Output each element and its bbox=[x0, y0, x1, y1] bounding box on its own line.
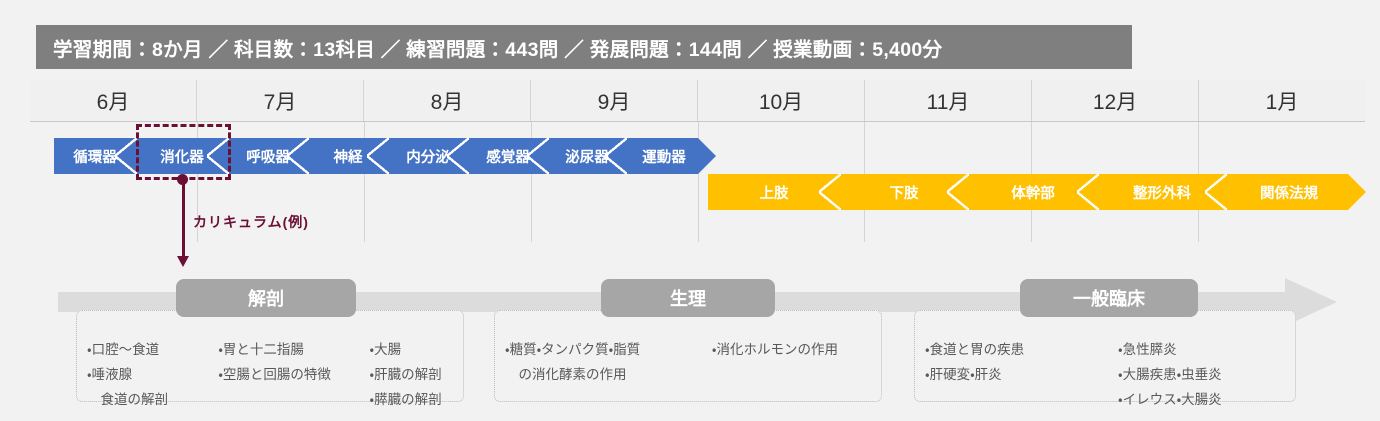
detail-item: ・イレウス・大腸炎 bbox=[1118, 387, 1291, 412]
month-cell-8: 1月 bbox=[1198, 80, 1365, 121]
detail-item: の消化酵素の作用 bbox=[505, 362, 698, 387]
detail-item: ・膵臓の解剖 bbox=[370, 387, 459, 412]
blue-chevron-4[interactable]: 神経 bbox=[308, 138, 388, 174]
detail-panel-anatomy: ・口腔〜食道・唾液腺 食道の解剖・胃と十二指腸・空腸と回腸の特徴・大腸・肝臓の解… bbox=[76, 310, 464, 402]
blue-chevron-6[interactable]: 感覚器 bbox=[468, 138, 548, 174]
yellow-chevron-5[interactable]: 関係法規 bbox=[1226, 174, 1366, 210]
yellow-chevron-3[interactable]: 体幹部 bbox=[968, 174, 1098, 210]
month-cell-1: 6月 bbox=[30, 80, 196, 121]
detail-column-3: ・大腸・肝臓の解剖・膵臓の解剖 bbox=[360, 337, 463, 395]
detail-columns: ・口腔〜食道・唾液腺 食道の解剖・胃と十二指腸・空腸と回腸の特徴・大腸・肝臓の解… bbox=[77, 337, 463, 395]
detail-column-2: ・胃と十二指腸・空腸と回腸の特徴 bbox=[208, 337, 359, 395]
yellow-chevron-label: 体幹部 bbox=[1011, 182, 1055, 203]
callout-label: カリキュラム(例) bbox=[193, 212, 309, 232]
detail-column-1: ・糖質・タンパク質・脂質 の消化酵素の作用 bbox=[495, 337, 702, 395]
yellow-chevron-2[interactable]: 下肢 bbox=[840, 174, 968, 210]
detail-item: ・胃と十二指腸 bbox=[218, 337, 355, 362]
detail-item: ・肝臓の解剖 bbox=[370, 362, 459, 387]
yellow-chevron-label: 整形外科 bbox=[1133, 182, 1191, 203]
summary-banner-text: 学習期間：8か月 ／ 科目数：13科目 ／ 練習問題：443問 ／ 発展問題：1… bbox=[53, 33, 942, 62]
curriculum-timeline-diagram: 学習期間：8か月 ／ 科目数：13科目 ／ 練習問題：443問 ／ 発展問題：1… bbox=[0, 0, 1380, 421]
month-cell-4: 9月 bbox=[530, 80, 697, 121]
detail-column-2: ・消化ホルモンの作用 bbox=[702, 337, 881, 395]
yellow-chevron-4[interactable]: 整形外科 bbox=[1098, 174, 1226, 210]
detail-panel-title-anatomy: 解剖 bbox=[176, 279, 356, 317]
detail-panel-title-clinical: 一般臨床 bbox=[1020, 279, 1198, 317]
blue-chevron-label: 循環器 bbox=[73, 146, 117, 167]
detail-item: ・空腸と回腸の特徴 bbox=[218, 362, 355, 387]
detail-item: ・食道と胃の疾患 bbox=[925, 337, 1104, 362]
callout-anchor-dot bbox=[177, 174, 188, 185]
yellow-chevron-label: 関係法規 bbox=[1260, 182, 1318, 203]
detail-item: ・大腸 bbox=[370, 337, 459, 362]
detail-columns: ・糖質・タンパク質・脂質 の消化酵素の作用・消化ホルモンの作用 bbox=[495, 337, 881, 395]
blue-chevron-5[interactable]: 内分泌 bbox=[388, 138, 468, 174]
blue-chevron-label: 泌尿器 bbox=[565, 146, 609, 167]
detail-column-1: ・口腔〜食道・唾液腺 食道の解剖 bbox=[77, 337, 208, 395]
detail-item: ・消化ホルモンの作用 bbox=[712, 337, 877, 362]
detail-column-2: ・急性膵炎・大腸疾患・虫垂炎・イレウス・大腸炎 bbox=[1108, 337, 1295, 395]
month-cell-3: 8月 bbox=[363, 80, 530, 121]
yellow-chevron-label: 上肢 bbox=[760, 182, 789, 203]
month-cell-6: 11月 bbox=[864, 80, 1031, 121]
callout-highlight-box bbox=[136, 124, 231, 180]
yellow-chevron-1[interactable]: 上肢 bbox=[708, 174, 840, 210]
detail-panel-clinical: ・食道と胃の疾患・肝硬変・肝炎・急性膵炎・大腸疾患・虫垂炎・イレウス・大腸炎 bbox=[914, 310, 1296, 402]
detail-item: ・急性膵炎 bbox=[1118, 337, 1291, 362]
detail-item: 食道の解剖 bbox=[87, 387, 204, 412]
detail-item: ・糖質・タンパク質・脂質 bbox=[505, 337, 698, 362]
blue-chevron-label: 呼吸器 bbox=[246, 146, 290, 167]
detail-item: ・大腸疾患・虫垂炎 bbox=[1118, 362, 1291, 387]
detail-item: ・唾液腺 bbox=[87, 362, 204, 387]
detail-panel-physiology: ・糖質・タンパク質・脂質 の消化酵素の作用・消化ホルモンの作用 bbox=[494, 310, 882, 402]
detail-panel-title-physiology: 生理 bbox=[601, 279, 775, 317]
summary-banner: 学習期間：8か月 ／ 科目数：13科目 ／ 練習問題：443問 ／ 発展問題：1… bbox=[36, 25, 1132, 69]
blue-chevron-8[interactable]: 運動器 bbox=[626, 138, 716, 174]
blue-chevron-label: 神経 bbox=[334, 146, 363, 167]
detail-item: ・口腔〜食道 bbox=[87, 337, 204, 362]
yellow-chevron-label: 下肢 bbox=[890, 182, 919, 203]
month-cell-5: 10月 bbox=[697, 80, 864, 121]
blue-chevron-label: 内分泌 bbox=[406, 146, 450, 167]
detail-item: ・肝硬変・肝炎 bbox=[925, 362, 1104, 387]
month-cell-2: 7月 bbox=[196, 80, 363, 121]
blue-chevron-7[interactable]: 泌尿器 bbox=[548, 138, 626, 174]
month-header-row: 6月7月8月9月10月11月12月1月 bbox=[30, 80, 1365, 122]
yellow-subject-track: 上肢下肢体幹部整形外科関係法規 bbox=[708, 174, 1366, 210]
blue-chevron-label: 運動器 bbox=[642, 146, 686, 167]
callout-arrow-head-icon bbox=[177, 256, 189, 267]
blue-chevron-label: 感覚器 bbox=[486, 146, 530, 167]
month-cell-7: 12月 bbox=[1031, 80, 1198, 121]
callout-arrow-stem bbox=[182, 178, 185, 260]
blue-chevron-1[interactable]: 循環器 bbox=[54, 138, 136, 174]
blue-chevron-3[interactable]: 呼吸器 bbox=[228, 138, 308, 174]
detail-column-1: ・食道と胃の疾患・肝硬変・肝炎 bbox=[915, 337, 1108, 395]
detail-columns: ・食道と胃の疾患・肝硬変・肝炎・急性膵炎・大腸疾患・虫垂炎・イレウス・大腸炎 bbox=[915, 337, 1295, 395]
